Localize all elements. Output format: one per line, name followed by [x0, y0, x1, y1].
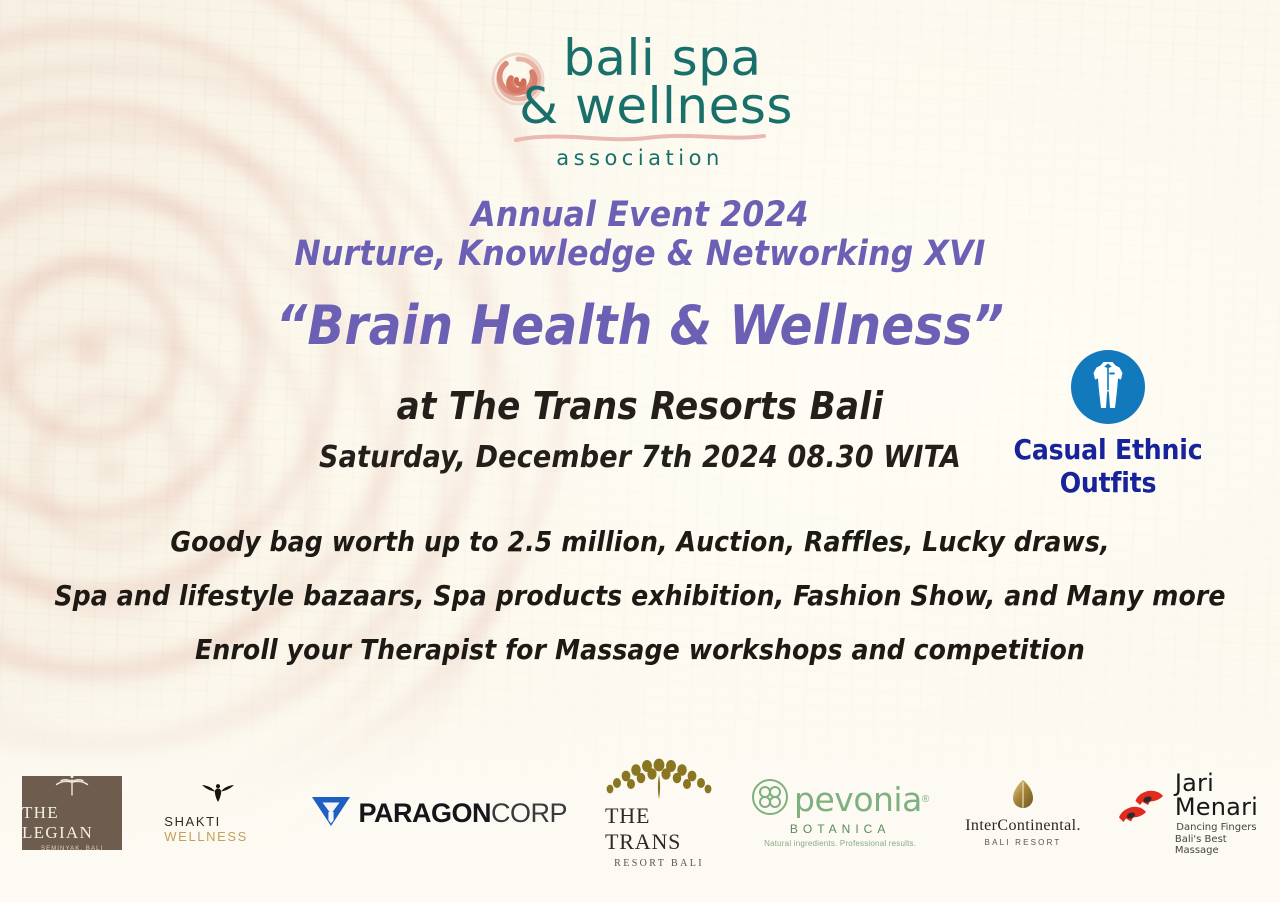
- jari-hands-icon: [1115, 788, 1169, 839]
- highlight-line: Goody bag worth up to 2.5 million, Aucti…: [0, 528, 1280, 556]
- jari-sub-1: Dancing Fingers: [1176, 822, 1256, 833]
- trans-sub: RESORT BALI: [614, 858, 704, 869]
- sponsor-logo-strip: THE LEGIAN SEMINYAK, BALI SHAKTI WELLNES…: [0, 758, 1280, 868]
- event-poster: bali spa & wellness association Annual E…: [0, 0, 1280, 902]
- jari-text-block: Jari Menari Dancing Fingers Bali's Best …: [1175, 771, 1258, 856]
- trans-name: THE TRANS: [605, 803, 713, 855]
- highlight-line: Spa and lifestyle bazaars, Spa products …: [0, 582, 1280, 610]
- jari-name: Jari Menari: [1175, 771, 1258, 819]
- annual-event-title: Annual Event 2024: [0, 196, 1280, 235]
- event-subtitle: Nurture, Knowledge & Networking XVI: [0, 235, 1280, 274]
- sponsor-logo-shakti-wellness: SHAKTI WELLNESS: [164, 782, 271, 844]
- coverall-icon: [1086, 359, 1130, 416]
- pevonia-clover-icon: [751, 778, 789, 821]
- jari-sub-2: Bali's Best Massage: [1175, 834, 1258, 856]
- sponsor-logo-intercontinental: InterContinental. BALI RESORT: [965, 779, 1081, 847]
- paragon-triangle-icon: [310, 793, 352, 834]
- sponsor-logo-the-trans-resort: THE TRANS RESORT BALI: [605, 758, 713, 869]
- association-logo: bali spa & wellness association: [0, 34, 1280, 170]
- highlight-line: Enroll your Therapist for Massage worksh…: [0, 636, 1280, 664]
- legian-location: SEMINYAK, BALI: [41, 846, 103, 852]
- legian-name: THE LEGIAN: [22, 803, 122, 843]
- shakti-word-1: SHAKTI: [164, 814, 221, 829]
- logo-wordmark: bali spa & wellness: [563, 34, 793, 130]
- shakti-word-2: WELLNESS: [164, 829, 248, 844]
- paragon-word-2: CORP: [491, 798, 567, 828]
- legian-palm-icon: [52, 774, 92, 801]
- logo-line-2: & wellness: [519, 82, 793, 130]
- pevonia-sub: BOTANICA: [790, 822, 890, 836]
- pevonia-row: pevonia ®: [751, 778, 929, 821]
- pevonia-registered-mark: ®: [922, 794, 929, 805]
- event-highlights: Goody bag worth up to 2.5 million, Aucti…: [0, 528, 1280, 664]
- paragon-wordmark: PARAGONCORP: [359, 798, 568, 829]
- sponsor-logo-the-legian: THE LEGIAN SEMINYAK, BALI: [22, 776, 122, 850]
- paragon-word-1: PARAGON: [359, 798, 492, 828]
- pevonia-tagline: Natural ingredients. Professional result…: [764, 839, 916, 848]
- logo-association-text: association: [556, 146, 724, 170]
- dress-code-label: Casual Ethnic Outfits: [968, 433, 1248, 499]
- intercontinental-sub: BALI RESORT: [985, 838, 1062, 847]
- shakti-wordmark: SHAKTI WELLNESS: [164, 814, 271, 844]
- sponsor-logo-pevonia-botanica: pevonia ® BOTANICA Natural ingredients. …: [751, 778, 929, 848]
- event-theme-title: “Brain Health & Wellness”: [0, 296, 1280, 355]
- shakti-winged-figure-icon: [200, 782, 236, 809]
- logo-row: bali spa & wellness: [487, 34, 793, 130]
- dress-code-circle: [1071, 350, 1145, 424]
- intercontinental-leaf-icon: [1010, 779, 1036, 814]
- intercontinental-name: InterContinental.: [965, 817, 1081, 835]
- pevonia-wordmark: pevonia: [794, 783, 922, 816]
- dress-code-badge: Casual Ethnic Outfits: [968, 350, 1248, 499]
- trans-tree-icon: [605, 758, 713, 805]
- sponsor-logo-paragoncorp: PARAGONCORP: [310, 793, 568, 834]
- sponsor-logo-jari-menari: Jari Menari Dancing Fingers Bali's Best …: [1115, 771, 1258, 856]
- logo-line-1: bali spa: [563, 34, 793, 82]
